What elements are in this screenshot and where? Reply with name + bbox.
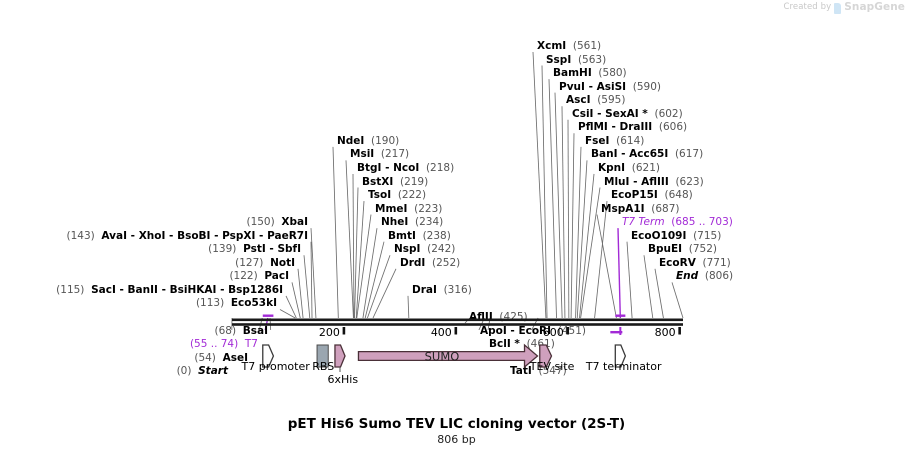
plasmid-map-canvas: Created by SnapGene XcmI (561)SspI (563)… xyxy=(0,0,913,455)
feature-name-label[interactable]: TEV site xyxy=(530,360,575,373)
ruler-tick-label: 600 xyxy=(543,326,564,339)
site-position: (190) xyxy=(371,135,399,147)
page-title: pET His6 Sumo TEV LIC cloning vector (2S… xyxy=(0,416,913,432)
enzyme-name: PacI xyxy=(264,270,289,282)
site-position: (771) xyxy=(703,257,731,269)
site-label[interactable]: XcmI (561) xyxy=(537,41,601,52)
site-position: (715) xyxy=(693,230,721,242)
site-position: (252) xyxy=(432,257,460,269)
site-label[interactable]: (113) Eco53kI xyxy=(196,298,277,309)
site-position: (113) xyxy=(196,297,224,309)
backbone-top-line xyxy=(232,319,683,322)
site-position: (561) xyxy=(573,40,601,52)
site-enzyme-names: BtgI - NcoI xyxy=(357,162,419,174)
site-enzyme-names: AscI xyxy=(566,94,591,106)
site-enzyme-names: BstXI xyxy=(362,176,393,188)
site-enzyme-names: DraI xyxy=(412,284,437,296)
feature-range-marker xyxy=(263,315,274,317)
site-label[interactable]: (122) PacI xyxy=(229,271,289,282)
enzyme-name: NheI xyxy=(381,216,408,228)
site-label[interactable]: DrdI (252) xyxy=(400,258,460,269)
site-enzyme-names: NspI xyxy=(394,243,420,255)
enzyme-name: MmeI xyxy=(375,203,407,215)
enzyme-name: XbaI xyxy=(281,216,308,228)
enzyme-name: EcoO109I xyxy=(631,230,686,242)
site-enzyme-names: XbaI xyxy=(281,216,308,228)
ruler-tick-label: 400 xyxy=(431,326,452,339)
feature-name-label[interactable]: RBS xyxy=(312,360,334,373)
enzyme-name: XhoI xyxy=(139,230,166,242)
site-label[interactable]: BanI - Acc65I (617) xyxy=(591,149,703,160)
enzyme-name: SacI xyxy=(91,284,116,296)
site-label[interactable]: EcoRV (771) xyxy=(659,258,731,269)
feature-range-marker xyxy=(615,315,625,317)
site-label[interactable]: TsoI (222) xyxy=(368,190,426,201)
site-enzyme-names: PvuI - AsiSI xyxy=(559,81,626,93)
site-enzyme-names: End xyxy=(676,270,698,282)
site-enzyme-names: DrdI xyxy=(400,257,425,269)
enzyme-name: BsiHKAI xyxy=(170,284,217,296)
site-label[interactable]: (139) PstI - SbfI xyxy=(208,244,301,255)
site-label[interactable]: KpnI (621) xyxy=(598,163,660,174)
site-enzyme-names: TsoI xyxy=(368,189,391,201)
ruler-tick xyxy=(566,327,569,335)
enzyme-name: BmtI xyxy=(388,230,416,242)
site-label[interactable]: NdeI (190) xyxy=(337,136,399,147)
site-enzyme-names: EcoRV xyxy=(659,257,696,269)
backbone-bottom-line xyxy=(232,323,683,326)
site-label[interactable]: BamHI (580) xyxy=(553,68,627,79)
site-enzyme-names: PacI xyxy=(264,270,289,282)
site-position: (218) xyxy=(426,162,454,174)
site-label[interactable]: MmeI (223) xyxy=(375,204,442,215)
feature-inline-label: SUMO xyxy=(425,350,460,364)
site-position: (222) xyxy=(398,189,426,201)
enzyme-name: NotI xyxy=(270,257,295,269)
site-enzyme-names: SacI - BanII - BsiHKAI - Bsp1286I xyxy=(91,284,283,296)
enzyme-name: AvaI xyxy=(101,230,127,242)
site-enzyme-names: FseI xyxy=(585,135,609,147)
site-position: (806) xyxy=(705,270,733,282)
enzyme-name: AflIII xyxy=(641,176,669,188)
ruler-tick xyxy=(455,327,458,335)
enzyme-name: NdeI xyxy=(337,135,364,147)
site-label[interactable]: BmtI (238) xyxy=(388,231,451,242)
feature-name-label[interactable]: T7 terminator xyxy=(586,360,662,373)
site-enzyme-names: PflMI - DraIII xyxy=(578,121,652,133)
enzyme-name: MsiI xyxy=(350,148,374,160)
site-position: (242) xyxy=(427,243,455,255)
ruler-tick-label: 200 xyxy=(319,326,340,339)
ruler-tick xyxy=(678,327,681,335)
site-position: (685 .. 703) xyxy=(671,216,733,228)
site-label[interactable]: EcoO109I (715) xyxy=(631,231,721,242)
enzyme-name: MluI xyxy=(604,176,629,188)
site-enzyme-names: BmtI xyxy=(388,230,416,242)
ruler-tick-label: 800 xyxy=(655,326,676,339)
site-position: (687) xyxy=(651,203,679,215)
site-enzyme-names: BpuEI xyxy=(648,243,682,255)
site-label[interactable]: BtgI - NcoI (218) xyxy=(357,163,454,174)
site-enzyme-names: NdeI xyxy=(337,135,364,147)
feature-name-label[interactable]: T7 promoter xyxy=(242,360,310,373)
sequence-map: SUMO xyxy=(0,312,913,372)
enzyme-name: PflMI xyxy=(578,121,608,133)
enzyme-name: BanII xyxy=(128,284,158,296)
enzyme-name: EcoP15I xyxy=(611,189,658,201)
site-position: (617) xyxy=(675,148,703,160)
site-position: (316) xyxy=(444,284,472,296)
feature-glyph[interactable] xyxy=(335,345,345,367)
site-enzyme-names: EcoP15I xyxy=(611,189,658,201)
site-label[interactable]: BpuEI (752) xyxy=(648,244,717,255)
site-enzyme-names: SspI xyxy=(546,54,571,66)
enzyme-name: BamHI xyxy=(553,67,592,79)
enzyme-name: Acc65I xyxy=(629,148,668,160)
site-enzyme-names: T7 Term xyxy=(622,216,665,228)
site-label[interactable]: SspI (563) xyxy=(546,55,606,66)
enzyme-name: BanI xyxy=(591,148,617,160)
site-enzyme-names: NheI xyxy=(381,216,408,228)
site-position: (580) xyxy=(598,67,626,79)
site-position: (590) xyxy=(633,81,661,93)
site-label[interactable]: PflMI - DraIII (606) xyxy=(578,122,687,133)
enzyme-name: XcmI xyxy=(537,40,566,52)
site-position: (127) xyxy=(235,257,263,269)
site-label-stack: XcmI (561)SspI (563)BamHI (580)PvuI - As… xyxy=(0,0,913,312)
site-position: (143) xyxy=(67,230,95,242)
enzyme-name: SexAI * xyxy=(605,108,648,120)
site-position: (139) xyxy=(208,243,236,255)
site-enzyme-names: MsiI xyxy=(350,148,374,160)
enzyme-name: NspI xyxy=(394,243,420,255)
enzyme-name: BpuEI xyxy=(648,243,682,255)
enzyme-name: BsoBI xyxy=(177,230,210,242)
site-position: (150) xyxy=(246,216,274,228)
site-label[interactable]: (127) NotI xyxy=(235,258,295,269)
enzyme-name: TsoI xyxy=(368,189,391,201)
site-enzyme-names: KpnI xyxy=(598,162,625,174)
site-position: (563) xyxy=(578,54,606,66)
enzyme-name: MspA1I xyxy=(601,203,645,215)
site-position: (614) xyxy=(616,135,644,147)
enzyme-name: PstI xyxy=(243,243,266,255)
site-position: (602) xyxy=(654,108,682,120)
enzyme-name: SbfI xyxy=(277,243,301,255)
site-position: (219) xyxy=(400,176,428,188)
enzyme-name: BtgI xyxy=(357,162,381,174)
site-enzyme-names: Eco53kI xyxy=(231,297,277,309)
ruler-tick xyxy=(343,327,346,335)
site-position: (648) xyxy=(665,189,693,201)
site-label[interactable]: (115) SacI - BanII - BsiHKAI - Bsp1286I xyxy=(56,285,283,296)
site-position: (217) xyxy=(381,148,409,160)
enzyme-name: Eco53kI xyxy=(231,297,277,309)
enzyme-name: PvuI xyxy=(559,81,585,93)
site-label[interactable]: EcoP15I (648) xyxy=(611,190,693,201)
site-label[interactable]: End (806) xyxy=(676,271,733,282)
enzyme-name: DraIII xyxy=(620,121,653,133)
site-position: (752) xyxy=(689,243,717,255)
enzyme-name: KpnI xyxy=(598,162,625,174)
site-position: (238) xyxy=(423,230,451,242)
site-enzyme-names: CsiI - SexAI * xyxy=(572,108,648,120)
site-position: (223) xyxy=(414,203,442,215)
enzyme-name: CsiI xyxy=(572,108,593,120)
site-enzyme-names: BanI - Acc65I xyxy=(591,148,668,160)
site-label[interactable]: DraI (316) xyxy=(412,285,472,296)
site-enzyme-names: EcoO109I xyxy=(631,230,686,242)
site-label[interactable]: CsiI - SexAI * (602) xyxy=(572,109,683,120)
enzyme-name: EcoRV xyxy=(659,257,696,269)
site-position: (115) xyxy=(56,284,84,296)
site-label[interactable]: PvuI - AsiSI (590) xyxy=(559,82,661,93)
enzyme-name: BstXI xyxy=(362,176,393,188)
site-label[interactable]: MluI - AflIII (623) xyxy=(604,177,704,188)
feature-name-label[interactable]: 6xHis xyxy=(327,373,358,386)
site-label[interactable]: (150) XbaI xyxy=(246,217,308,228)
feature-arrow xyxy=(335,345,345,367)
page-subtitle: 806 bp xyxy=(0,433,913,446)
site-enzyme-names: MspA1I xyxy=(601,203,645,215)
enzyme-name: SspI xyxy=(546,54,571,66)
site-label[interactable]: MsiI (217) xyxy=(350,149,409,160)
site-label[interactable]: NheI (234) xyxy=(381,217,443,228)
site-position: (595) xyxy=(597,94,625,106)
site-position: (234) xyxy=(415,216,443,228)
enzyme-name: NcoI xyxy=(393,162,419,174)
site-label[interactable]: FseI (614) xyxy=(585,136,644,147)
site-label[interactable]: BstXI (219) xyxy=(362,177,428,188)
enzyme-name: End xyxy=(676,270,698,282)
enzyme-name: DrdI xyxy=(400,257,425,269)
site-position: (606) xyxy=(659,121,687,133)
site-position: (621) xyxy=(632,162,660,174)
enzyme-name: Bsp1286I xyxy=(228,284,283,296)
site-enzyme-names: NotI xyxy=(270,257,295,269)
enzyme-name: AsiSI xyxy=(597,81,626,93)
enzyme-name: AscI xyxy=(566,94,591,106)
site-label[interactable]: T7 Term (685 .. 703) xyxy=(622,217,733,228)
site-enzyme-names: AvaI - XhoI - BsoBI - PspXI - PaeR7I xyxy=(101,230,308,242)
site-label[interactable]: AscI (595) xyxy=(566,95,625,106)
site-enzyme-names: MmeI xyxy=(375,203,407,215)
site-enzyme-names: PstI - SbfI xyxy=(243,243,301,255)
enzyme-name: PaeR7I xyxy=(267,230,308,242)
site-enzyme-names: MluI - AflIII xyxy=(604,176,669,188)
site-enzyme-names: XcmI xyxy=(537,40,566,52)
enzyme-name: DraI xyxy=(412,284,437,296)
site-enzyme-names: BamHI xyxy=(553,67,592,79)
enzyme-name: PspXI xyxy=(222,230,255,242)
site-position: (122) xyxy=(229,270,257,282)
t7-terminator-bar xyxy=(610,331,622,333)
site-position: (623) xyxy=(675,176,703,188)
site-label[interactable]: NspI (242) xyxy=(394,244,455,255)
enzyme-name: FseI xyxy=(585,135,609,147)
site-label[interactable]: MspA1I (687) xyxy=(601,204,679,215)
site-label[interactable]: (143) AvaI - XhoI - BsoBI - PspXI - PaeR… xyxy=(67,231,309,242)
enzyme-name: T7 Term xyxy=(622,216,665,228)
